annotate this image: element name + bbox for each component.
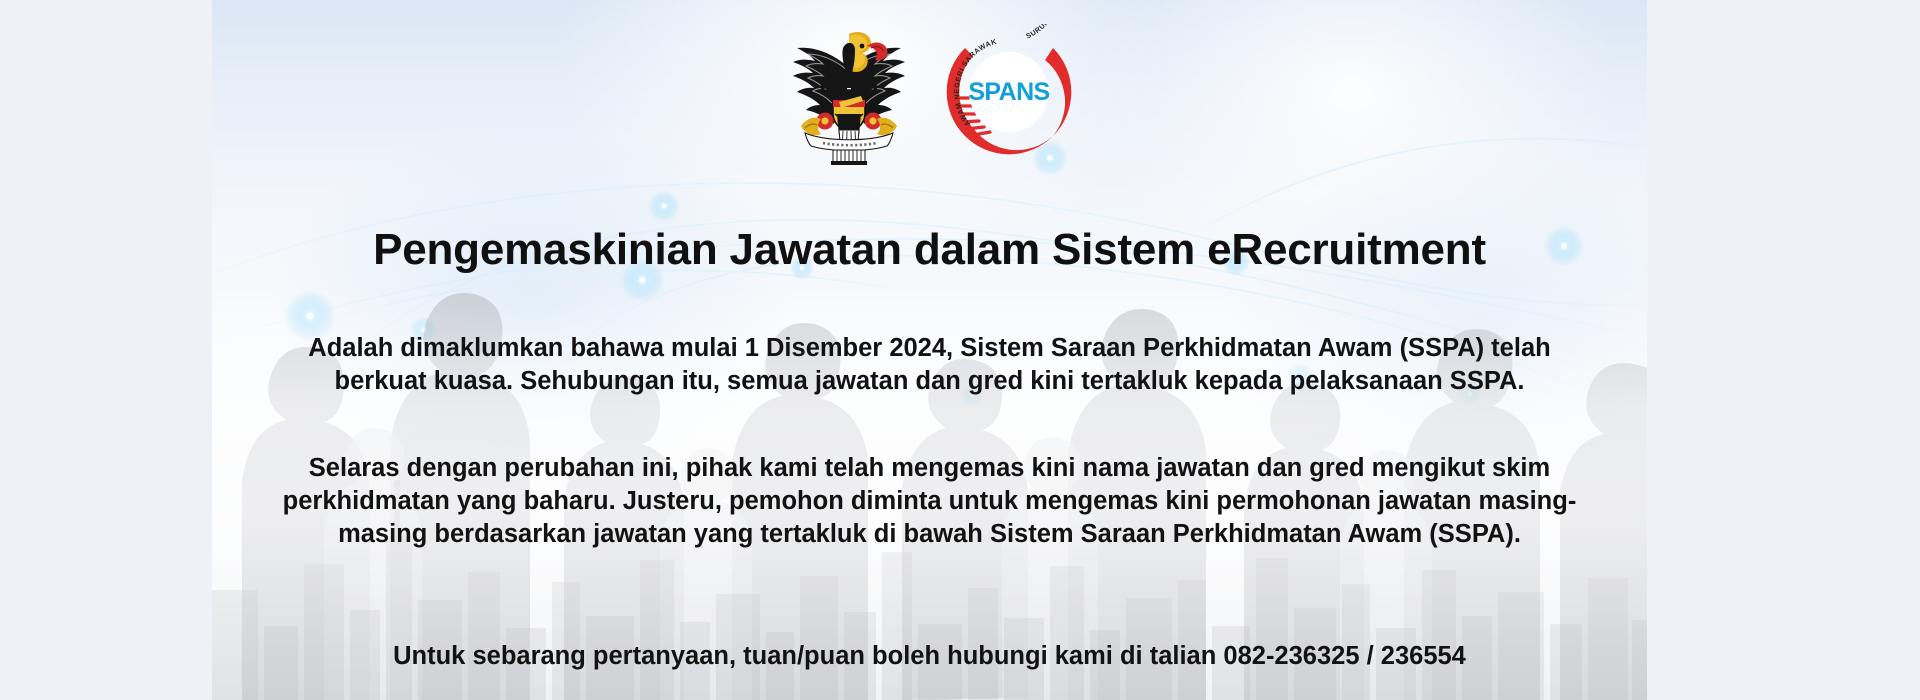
sarawak-coat-of-arms-icon xyxy=(783,18,915,166)
announcement-banner: SURUHANJAYA PERKHIDMATAN AWAM NEGERI SAR… xyxy=(212,0,1647,700)
page-title: Pengemaskinian Jawatan dalam Sistem eRec… xyxy=(212,226,1647,274)
svg-text:SPANS: SPANS xyxy=(968,78,1049,106)
svg-text:SURUHANJAYA PERKHIDMATAN: SURUHANJAYA PERKHIDMATAN xyxy=(1019,24,1061,40)
announcement-page: SURUHANJAYA PERKHIDMATAN AWAM NEGERI SAR… xyxy=(0,0,1920,700)
spans-logo-icon: SURUHANJAYA PERKHIDMATAN AWAM NEGERI SAR… xyxy=(941,24,1077,160)
announcement-paragraph-2: Selaras dengan perubahan ini, pihak kami… xyxy=(265,452,1595,551)
logo-row: SURUHANJAYA PERKHIDMATAN AWAM NEGERI SAR… xyxy=(212,18,1647,166)
announcement-paragraph-1: Adalah dimaklumkan bahawa mulai 1 Disemb… xyxy=(265,332,1595,398)
contact-line: Untuk sebarang pertanyaan, tuan/puan bol… xyxy=(265,640,1595,673)
banner-content: SURUHANJAYA PERKHIDMATAN AWAM NEGERI SAR… xyxy=(212,0,1647,700)
